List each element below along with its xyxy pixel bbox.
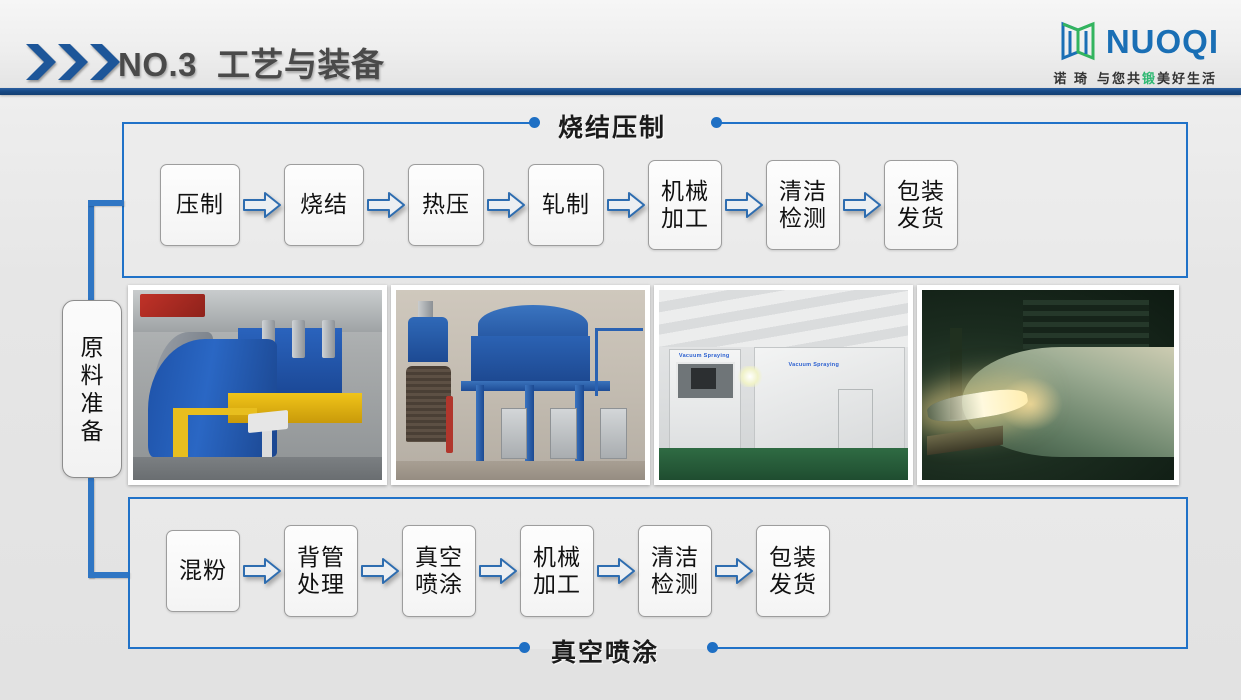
process-node[interactable]: 机械 加工 xyxy=(648,160,722,250)
group-bottom-label: 真空喷涂 xyxy=(551,633,659,669)
node-line: 加工 xyxy=(661,205,709,232)
node-line: 机械 xyxy=(661,178,709,205)
page-title-number: NO.3 xyxy=(118,46,197,83)
chevron-right-icon xyxy=(88,42,122,82)
hollow-right-arrow-icon xyxy=(484,189,528,221)
process-node[interactable]: 混粉 xyxy=(166,530,240,612)
node-line: 发货 xyxy=(897,205,945,232)
node-line: 机械 xyxy=(533,544,581,571)
raw-material-node[interactable]: 原 料 准 备 xyxy=(62,300,122,478)
raw-material-char: 准 xyxy=(81,389,104,417)
node-line: 清洁 xyxy=(651,544,699,571)
node-line: 喷涂 xyxy=(415,571,463,598)
process-node[interactable]: 热压 xyxy=(408,164,484,246)
node-line: 处理 xyxy=(297,571,345,598)
logo-wordmark: NUOQI xyxy=(1106,25,1219,58)
vacuum-spraying-booth-photo: Vacuum Spraying Vacuum Spraying xyxy=(654,285,913,485)
vacuum-sintering-furnace-photo xyxy=(391,285,650,485)
hollow-right-arrow-icon xyxy=(840,189,884,221)
hollow-right-arrow-icon xyxy=(604,189,648,221)
node-line: 轧制 xyxy=(542,191,590,218)
node-line: 发货 xyxy=(769,571,817,598)
group-top-edge-right xyxy=(716,122,1188,124)
node-line: 加工 xyxy=(533,571,581,598)
slide-canvas: NO.3工艺与装备 NUOQI 诺 琦与您共锻美好生活 xyxy=(0,0,1241,700)
group-bottom-dot-left xyxy=(519,642,530,653)
group-bottom-dot-right xyxy=(707,642,718,653)
group-top-label: 烧结压制 xyxy=(558,108,666,144)
tagline-part-3: 美好生活 xyxy=(1157,71,1217,86)
page-title: NO.3工艺与装备 xyxy=(118,38,385,86)
connector-elbow-bottom xyxy=(88,572,130,578)
plasma-spray-roller-photo xyxy=(917,285,1179,485)
node-line: 检测 xyxy=(779,205,827,232)
header-divider xyxy=(0,88,1241,95)
tagline-part-1: 诺 琦 xyxy=(1053,71,1089,86)
page-title-text: 工艺与装备 xyxy=(217,46,385,83)
node-line: 包装 xyxy=(897,178,945,205)
process-node[interactable]: 轧制 xyxy=(528,164,604,246)
hollow-right-arrow-icon xyxy=(594,555,638,587)
node-line: 热压 xyxy=(422,191,470,218)
connector-elbow-top xyxy=(88,200,124,206)
node-line: 背管 xyxy=(297,544,345,571)
tagline-part-2: 与您共 xyxy=(1097,71,1142,86)
hydraulic-press-photo xyxy=(128,285,387,485)
connector-vertical-down xyxy=(88,478,94,578)
hollow-right-arrow-icon xyxy=(240,555,284,587)
group-top-dot-left xyxy=(529,117,540,128)
booth-overlay-text: Vacuum Spraying xyxy=(679,353,730,359)
process-node[interactable]: 清洁 检测 xyxy=(766,160,840,250)
node-line: 烧结 xyxy=(300,191,348,218)
process-node[interactable]: 压制 xyxy=(160,164,240,246)
raw-material-char: 料 xyxy=(81,361,104,389)
hollow-right-arrow-icon xyxy=(712,555,756,587)
node-line: 混粉 xyxy=(179,557,227,584)
open-book-logo-icon xyxy=(1058,20,1098,62)
group-top-edge-left xyxy=(122,122,534,124)
node-line: 真空 xyxy=(415,544,463,571)
group-bottom-edge-right xyxy=(712,647,1188,649)
chevron-group-icon xyxy=(24,42,130,82)
hollow-right-arrow-icon xyxy=(240,189,284,221)
process-node[interactable]: 包装 发货 xyxy=(884,160,958,250)
chevron-right-icon xyxy=(24,42,58,82)
process-node[interactable]: 真空 喷涂 xyxy=(402,525,476,617)
node-line: 检测 xyxy=(651,571,699,598)
node-line: 压制 xyxy=(176,191,224,218)
connector-vertical-up xyxy=(88,200,94,300)
process-node[interactable]: 背管 处理 xyxy=(284,525,358,617)
hollow-right-arrow-icon xyxy=(476,555,520,587)
group-top-dot-right xyxy=(711,117,722,128)
tagline-highlight-char: 锻 xyxy=(1142,71,1157,86)
hollow-right-arrow-icon xyxy=(364,189,408,221)
logo-tagline: 诺 琦与您共锻美好生活 xyxy=(1053,68,1217,87)
process-flow-top: 压制 烧结 热压 轧制 机械 加工 清洁 检测 包装 xyxy=(160,160,958,250)
process-node[interactable]: 包装 发货 xyxy=(756,525,830,617)
brand-logo: NUOQI 诺 琦与您共锻美好生活 xyxy=(1053,20,1219,87)
process-node[interactable]: 机械 加工 xyxy=(520,525,594,617)
process-node[interactable]: 清洁 检测 xyxy=(638,525,712,617)
node-line: 清洁 xyxy=(779,178,827,205)
process-node[interactable]: 烧结 xyxy=(284,164,364,246)
raw-material-char: 备 xyxy=(81,417,104,445)
raw-material-char: 原 xyxy=(81,333,104,361)
process-flow-bottom: 混粉 背管 处理 真空 喷涂 机械 加工 清洁 检测 xyxy=(166,525,830,617)
hollow-right-arrow-icon xyxy=(722,189,766,221)
slide-header: NO.3工艺与装备 NUOQI 诺 琦与您共锻美好生活 xyxy=(0,0,1241,92)
group-bottom-edge-left xyxy=(128,647,524,649)
node-line: 包装 xyxy=(769,544,817,571)
tunnel-overlay-text: Vacuum Spraying xyxy=(788,362,839,368)
hollow-right-arrow-icon xyxy=(358,555,402,587)
chevron-right-icon xyxy=(56,42,90,82)
